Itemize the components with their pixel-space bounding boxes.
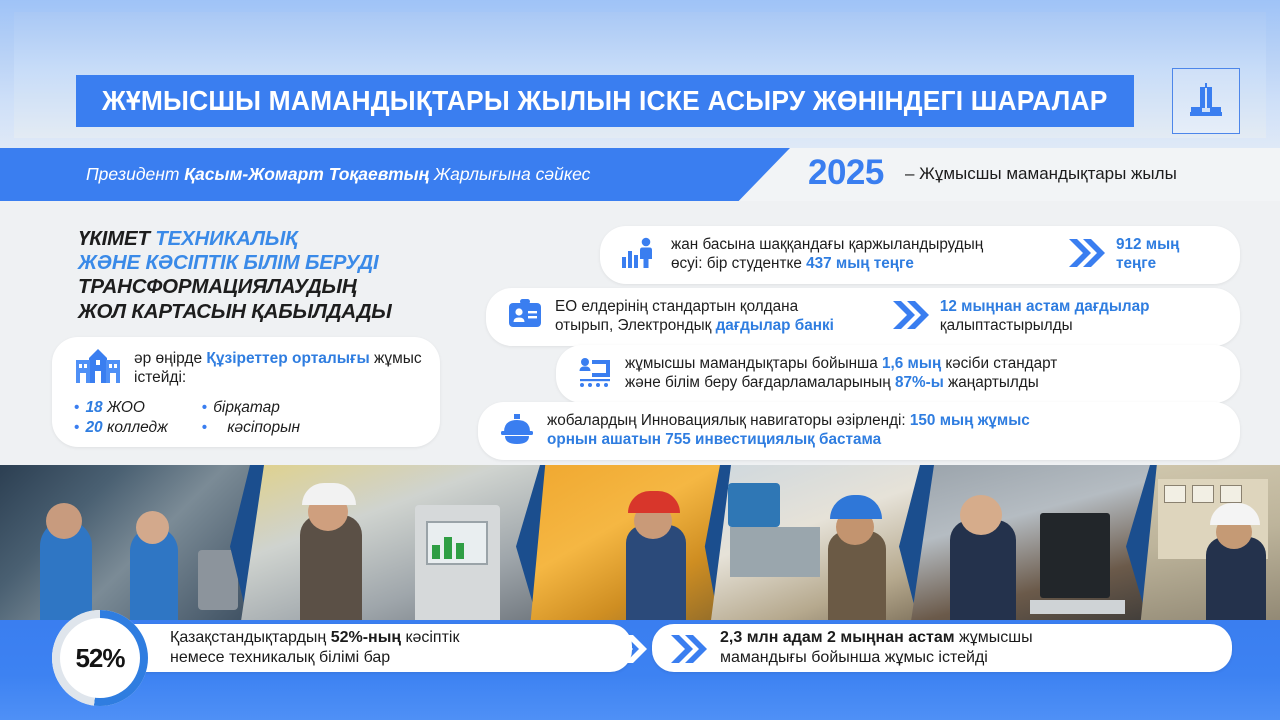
navigator-line1-pre: жобалардың Инновациялық навигаторы әзірл… (547, 412, 910, 429)
photo-panel-factory-women-assembly (0, 465, 250, 628)
funding-card-result: 912 мыңтеңге (1116, 236, 1224, 274)
school-building-icon (74, 349, 122, 388)
list-item: 18 ЖОО (74, 398, 168, 418)
percent-value: 52% (75, 643, 124, 674)
photo-panel-red-helmet-worker (530, 465, 720, 628)
navigator-card-text: жобалардың Инновациялық навигаторы әзірл… (547, 412, 1030, 450)
headline-line2-highlight: ЖӘНЕ КӘСІПТІК БІЛІМ БЕРУДІ (78, 251, 378, 274)
headline-line4: ЖОЛ КАРТАСЫН ҚАБЫЛДАДЫ (78, 300, 392, 323)
footer-card2-bold: 2,3 млн адам 2 мыңнан астам (720, 629, 955, 646)
funding-line2-value: 437 мың теңге (806, 255, 914, 272)
skills-line1: ЕО елдерінің стандартын қолдана (555, 298, 798, 315)
double-chevron-right-icon (1066, 236, 1106, 275)
navigator-line1-value: 150 мың жұмыс (910, 412, 1030, 429)
innovation-navigator-card: жобалардың Инновациялық навигаторы әзірл… (478, 402, 1240, 460)
bullets-column-1: 18 ЖОО 20 колледж (74, 398, 168, 438)
bullet-label: колледж (103, 419, 168, 436)
headline-line3: ТРАНСФОРМАЦИЯЛАУДЫҢ (78, 275, 356, 298)
standards-line1-pre: жұмысшы мамандықтары бойынша (625, 355, 882, 372)
standards-line2-post: жаңартылды (944, 374, 1039, 391)
skills-line2-value: дағдылар банкі (716, 317, 834, 334)
page-title: ЖҰМЫСШЫ МАМАНДЫҚТАРЫ ЖЫЛЫН ІСКЕ АСЫРУ ЖӨ… (102, 85, 1108, 117)
footer-card1-line2: немесе техникалық білімі бар (170, 649, 390, 666)
headline-text: ҮКІМЕТ ТЕХНИКАЛЫҚ ЖӘНЕ КӘСІПТІК БІЛІМ БЕ… (78, 227, 508, 324)
bullet-num: 18 (85, 399, 102, 416)
bar-chart-person-icon (622, 237, 658, 274)
footer-card1-post: кәсіптік (401, 629, 459, 646)
skills-result-line2: қалыптастырылды (940, 317, 1073, 334)
navigator-line2-value: орнын ашатын 755 инвестициялық бастама (547, 431, 881, 448)
standards-line1-post: кәсіби стандарт (941, 355, 1057, 372)
funding-line2-pre: өсуі: бір студентке (671, 255, 806, 272)
double-chevron-right-icon (890, 298, 930, 337)
list-item: 20 колледж (74, 418, 168, 438)
funding-card-text: жан басына шаққандағы қаржыландырудың өс… (671, 236, 983, 274)
competence-card-text: әр өңірде Құзіреттер орталығы жұмыс істе… (134, 350, 440, 388)
skills-bank-text: ЕО елдерінің стандартын қолдана отырып, … (555, 298, 834, 336)
funding-line1: жан басына шаққандағы қаржыландырудың (671, 236, 983, 253)
bullet-label: бірқатар (213, 399, 280, 416)
competence-text-pre: әр өңірде (134, 350, 206, 367)
title-banner: ЖҰМЫСШЫ МАМАНДЫҚТАРЫ ЖЫЛЫН ІСКЕ АСЫРУ ЖӨ… (76, 75, 1134, 127)
bullet-label: кәсіпорын (227, 419, 300, 436)
double-chevron-right-icon (668, 632, 708, 671)
standards-line2-value: 87%-ы (895, 374, 944, 391)
competence-card-header: әр өңірде Құзіреттер орталығы жұмыс істе… (52, 337, 440, 388)
headline-line1-plain: ҮКІМЕТ (78, 227, 155, 250)
standards-card-text: жұмысшы мамандықтары бойынша 1,6 мың кәс… (625, 355, 1057, 393)
competence-centers-card: әр өңірде Құзіреттер орталығы жұмыс істе… (52, 337, 440, 447)
infographic-page: ЖҰМЫСШЫ МАМАНДЫҚТАРЫ ЖЫЛЫН ІСКЕ АСЫРУ ЖӨ… (0, 0, 1280, 720)
president-strip: Президент Қасым-Жомарт Тоқаевтың Жарлығы… (0, 148, 1280, 201)
footer-card1-pre: Қазақстандықтардың (170, 629, 331, 646)
competence-text-highlight: Құзіреттер орталығы (206, 350, 369, 367)
percent-donut: 52% (52, 610, 148, 706)
skills-bank-result: 12 мыңнан астам дағдыларқалыптастырылды (940, 298, 1150, 336)
competence-bullets: 18 ЖОО 20 колледж бірқатар кәсіпорын (74, 398, 440, 438)
footer-card1-bold: 52%-ның (331, 629, 401, 646)
photo-panel-worker-control-panel-radio (240, 465, 540, 628)
photo-panel-control-room-operator-radio (1140, 465, 1280, 628)
bullets-column-2: бірқатар кәсіпорын (202, 398, 300, 438)
skills-line2-pre: отырып, Электрондық (555, 317, 716, 334)
footer-card2-text: 2,3 млн адам 2 мыңнан астам жұмысшы мама… (720, 628, 1033, 668)
list-item-continued: кәсіпорын (202, 418, 300, 438)
funding-result-line2: теңге (1116, 255, 1156, 272)
funding-result-line1: 912 мың (1116, 236, 1179, 253)
percent-hole: 52% (60, 618, 140, 698)
government-building-icon (1172, 68, 1240, 134)
industrial-workers-photo-collage (0, 465, 1280, 628)
footer-card-education: Қазақстандықтардың 52%-ның кәсіптік неме… (112, 624, 632, 672)
year-caption: – Жұмысшы мамандықтары жылы (905, 164, 1177, 184)
bullet-num: 20 (85, 419, 102, 436)
standards-line1-value: 1,6 мың (882, 355, 941, 372)
headline-line1-highlight: ТЕХНИКАЛЫҚ (155, 227, 297, 250)
skills-result-line1: 12 мыңнан астам дағдылар (940, 298, 1150, 315)
bullet-label: ЖОО (103, 399, 145, 416)
id-badge-icon (508, 299, 542, 336)
president-suffix: Жарлығына сәйкес (429, 164, 590, 184)
president-prefix: Президент (86, 164, 184, 184)
hard-hat-icon (500, 413, 534, 450)
president-strip-blue: Президент Қасым-Жомарт Тоқаевтың Жарлығы… (0, 148, 790, 201)
footer-card2-line2: мамандығы бойынша жұмыс істейді (720, 649, 988, 666)
standards-line2-pre: және білім беру бағдарламаларының (625, 374, 895, 391)
list-item: бірқатар (202, 398, 300, 418)
footer-card1-text: Қазақстандықтардың 52%-ның кәсіптік неме… (170, 628, 459, 668)
footer-card2-post: жұмысшы (955, 629, 1033, 646)
president-name: Қасым-Жомарт Тоқаевтың (184, 164, 429, 184)
photo-panel-woman-operator-computer (910, 465, 1150, 628)
presentation-board-icon (578, 357, 612, 392)
photo-panel-blue-helmet-worker-machinery (710, 465, 920, 628)
funding-growth-card: жан басына шаққандағы қаржыландырудың өс… (600, 226, 1240, 284)
double-chevron-right-icon-outer (608, 632, 648, 671)
professional-standards-card: жұмысшы мамандықтары бойынша 1,6 мың кәс… (556, 345, 1240, 403)
skills-bank-card: ЕО елдерінің стандартын қолдана отырып, … (486, 288, 1240, 346)
footer-card-employment: 2,3 млн адам 2 мыңнан астам жұмысшы мама… (652, 624, 1232, 672)
president-text: Президент Қасым-Жомарт Тоқаевтың Жарлығы… (86, 164, 590, 185)
year-label: 2025 (808, 153, 884, 193)
